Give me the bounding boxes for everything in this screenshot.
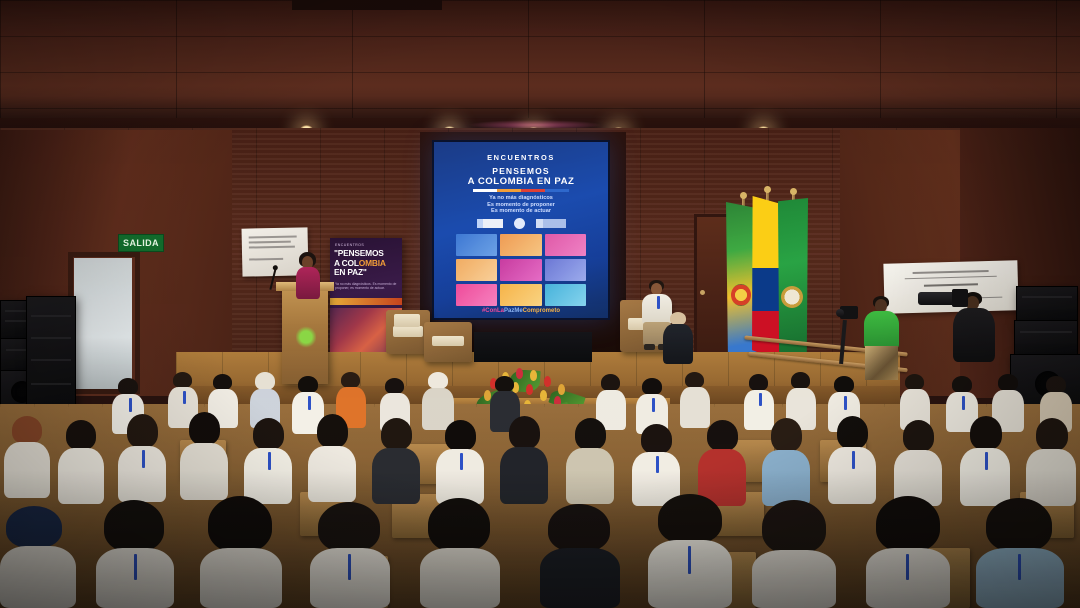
photo-tile [500,284,541,306]
photo-tile [500,234,541,256]
lanyard [657,296,660,309]
line-array-speaker-stack-right [1014,320,1078,356]
hashtag-part-3: Comprometo [523,308,560,314]
screen-title-line1: PENSEMOS [434,166,608,176]
partner-logo-circle-icon [514,218,525,229]
photo-tile [456,259,497,281]
tagline-line-3: Es momento de actuar [434,208,608,215]
speaker-tower-left [26,296,76,418]
draped-side-table [474,332,592,362]
screen-tagline: Ya no más diagnósticos Es momento de pro… [434,195,608,215]
rollup-quote-line3: EN PAZ" [334,268,400,278]
photo-tile-grid [456,234,586,306]
rollup-color-bar [330,298,402,305]
partner-logo-wordmark-icon [477,219,503,228]
screen-color-rule [473,189,569,192]
screen-kicker: ENCUENTROS [434,153,608,162]
camera-body [952,289,968,307]
photo-tile [545,259,586,281]
torso [296,267,320,299]
podium-emblem-icon [296,326,316,348]
flag-finial-icon [790,188,797,195]
photo-tile [456,284,497,306]
auditorium-photo: SALIDA ENCUENTROS PENSEMOS A COLOMBIA EN… [0,0,1080,608]
projection-screen: ENCUENTROS PENSEMOS A COLOMBIA EN PAZ Ya… [434,142,608,318]
photo-tile [545,284,586,306]
screen-title-line2: A COLOMBIA EN PAZ [434,176,608,187]
wicker-armchair-center [424,322,472,362]
photo-tile [545,234,586,256]
speaker-at-podium [296,252,322,298]
door-frame [68,252,140,394]
rollup-kicker: ENCUENTROS [335,243,364,247]
patterned-skirt [865,346,898,380]
exit-sign-label: SALIDA [123,238,159,248]
flag-finial-icon [764,186,771,193]
shoe [644,344,655,350]
rollup-quote-highlight: OMBIA [359,258,386,268]
right-wall-banner [883,260,1018,313]
tagline-line-1: Ya no más diagnósticos [434,195,608,202]
hashtag-part-2: PazMe [504,308,523,314]
photo-tile [456,234,497,256]
rollup-quote-line2: A COL [334,258,359,268]
municipal-flag [778,198,808,360]
hashtag-part-1: #ConLa [482,308,504,314]
photo-tile [500,259,541,281]
rollup-quote: "PENSEMOS A COLOMBIA EN PAZ" [334,249,400,278]
torso [864,311,899,349]
municipal-flag-crest-icon [781,286,803,308]
departmental-flag-crest-icon [731,284,751,306]
ceiling-vent [292,0,442,10]
screen-hashtag: #ConLaPazMeComprometo [434,308,608,314]
seated-attendee-front [662,312,694,366]
line-array-speaker-stack-right [1016,286,1078,322]
rollup-subtext: Ya no más diagnósticos. Es momento de pr… [335,282,397,291]
partner-logo-row [434,218,608,229]
partner-logo-university-icon [536,219,566,228]
floor-shadow [0,470,1080,608]
flag-finial-icon [740,192,747,199]
tagline-line-2: Es momento de proponer [434,202,608,209]
torso [663,324,693,364]
torso [953,308,995,362]
event-photographer [862,296,902,388]
colombian-flag [752,196,782,360]
camera-lens-icon [836,309,844,317]
door-knob-icon[interactable] [700,290,705,295]
exit-sign: SALIDA [118,234,164,252]
